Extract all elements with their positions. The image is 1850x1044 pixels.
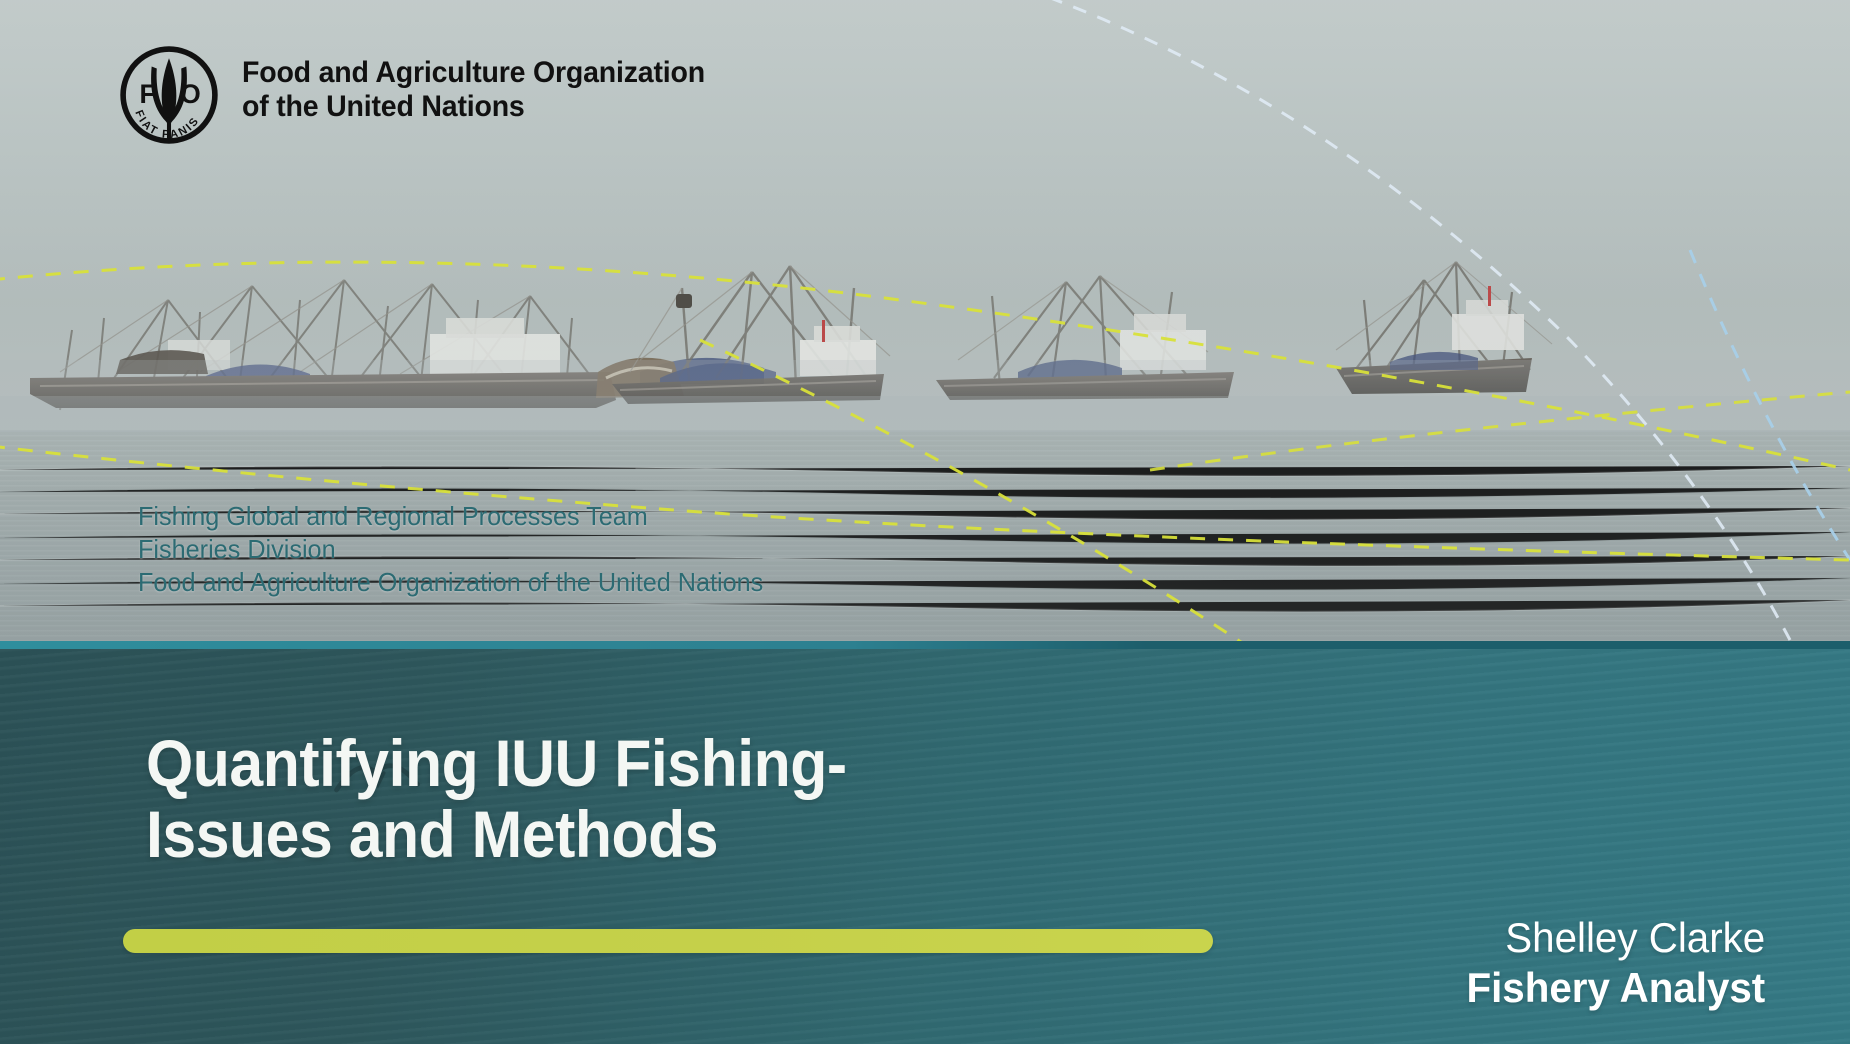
fao-org-name: Food and Agriculture Organization of the… xyxy=(242,44,705,123)
affiliation-line-2: Fisheries Division xyxy=(138,533,763,566)
presentation-slide: F A O FIAT PANIS Food and Agriculture Or… xyxy=(0,0,1850,1044)
svg-text:F: F xyxy=(139,79,155,109)
author-name: Shelley Clarke xyxy=(1466,913,1765,963)
fao-org-line1: Food and Agriculture Organization xyxy=(242,56,705,90)
panel-divider xyxy=(0,641,1850,649)
author-role: Fishery Analyst xyxy=(1466,963,1765,1013)
author-block: Shelley Clarke Fishery Analyst xyxy=(1454,913,1765,1012)
affiliation-block: Fishing Global and Regional Processes Te… xyxy=(138,500,763,599)
fao-org-line2: of the United Nations xyxy=(242,90,705,124)
svg-text:A: A xyxy=(163,69,176,89)
svg-text:O: O xyxy=(180,79,201,109)
fao-logo-block: F A O FIAT PANIS Food and Agriculture Or… xyxy=(118,44,729,146)
slide-title-line2: Issues and Methods xyxy=(146,799,847,870)
accent-bar xyxy=(123,929,1213,953)
affiliation-line-1: Fishing Global and Regional Processes Te… xyxy=(138,500,763,533)
fao-logo-icon: F A O FIAT PANIS xyxy=(118,44,220,146)
slide-title: Quantifying IUU Fishing- Issues and Meth… xyxy=(146,728,847,871)
slide-title-line1: Quantifying IUU Fishing- xyxy=(146,728,847,799)
affiliation-line-3: Food and Agriculture Organization of the… xyxy=(138,566,763,599)
